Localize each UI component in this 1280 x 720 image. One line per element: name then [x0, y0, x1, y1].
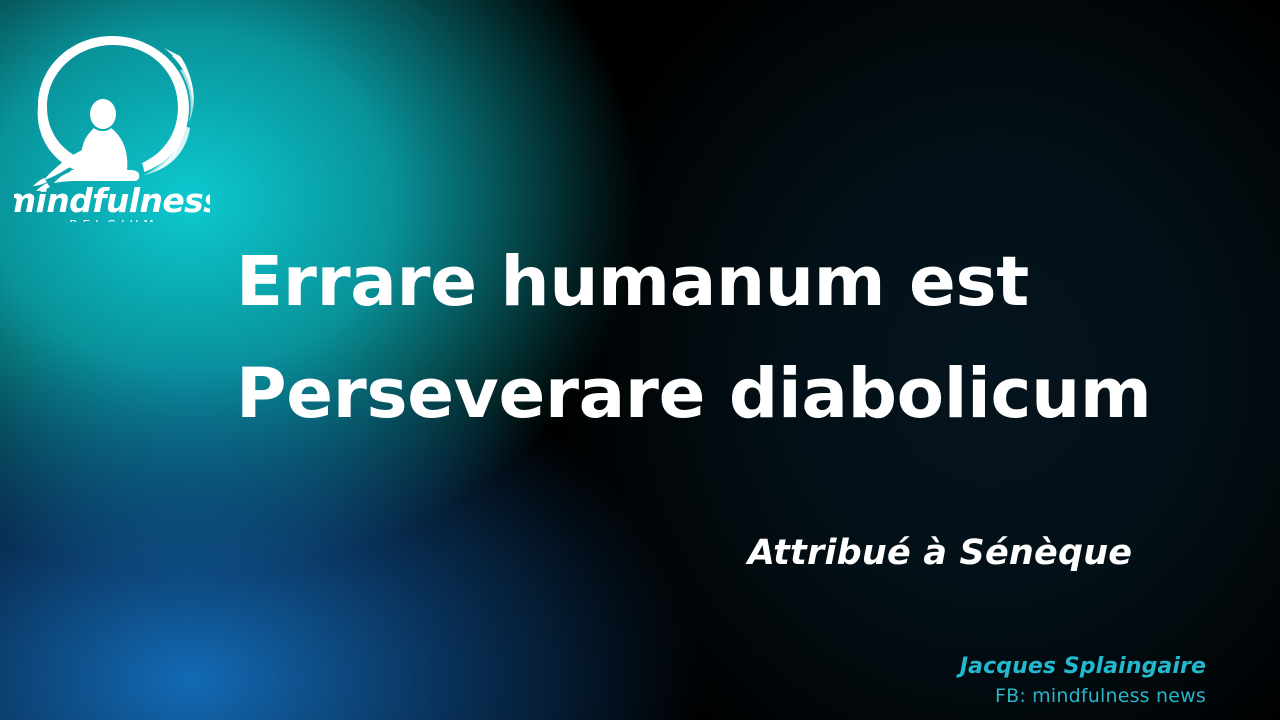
credits-block: Jacques Splaingaire FB: mindfulness news — [960, 652, 1206, 710]
quote-line-2: Perseverare diabolicum — [236, 338, 1236, 450]
credit-social-handle: FB: mindfulness news — [960, 682, 1206, 710]
quote-block: Errare humanum est Perseverare diabolicu… — [236, 226, 1236, 450]
mindfulness-belgium-logo: mindfulness BELGIUM — [14, 22, 210, 222]
svg-text:mindfulness: mindfulness — [14, 181, 210, 220]
quote-attribution: Attribué à Sénèque — [560, 533, 1280, 573]
svg-text:BELGIUM: BELGIUM — [69, 218, 158, 222]
credit-author-name: Jacques Splaingaire — [960, 652, 1206, 682]
logo-wordmark: mindfulness — [14, 181, 210, 220]
presentation-slide: mindfulness BELGIUM Errare humanum est P… — [0, 0, 1280, 720]
quote-line-1: Errare humanum est — [236, 226, 1236, 338]
logo-subtitle: BELGIUM — [69, 218, 158, 222]
